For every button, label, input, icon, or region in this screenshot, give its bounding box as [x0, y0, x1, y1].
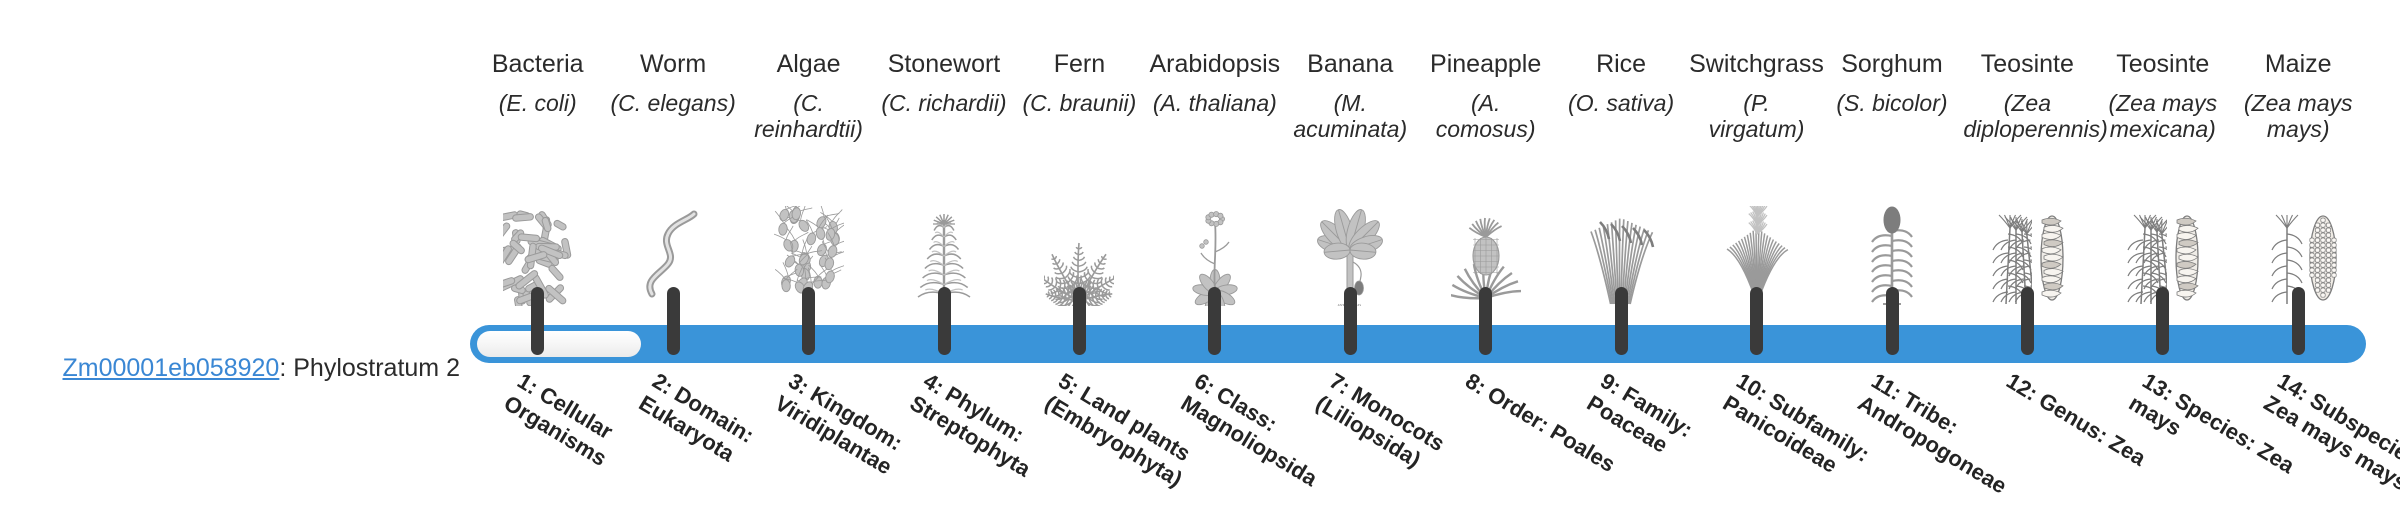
species-column: Stonewort(C. richardii): [876, 50, 1011, 310]
species-column: Pineapple(A. comosus): [1418, 50, 1553, 310]
phylostratum-bar-track: [470, 325, 2366, 363]
taxonomy-rank-label: 12: Genus: Zea: [2002, 368, 2165, 480]
species-scientific-name: (M. acuminata): [1286, 90, 1414, 142]
species-common-name: Fern: [1054, 50, 1105, 78]
taxonomy-rank-text: Land plants (Embryophyta): [1041, 381, 1195, 491]
nematode-worm-icon: [605, 205, 740, 310]
taxonomy-rank-label: 6: Class: Magnoliopsida: [1176, 368, 1353, 502]
taxonomy-rank-text: Tribe: Andropogoneae: [1854, 387, 2011, 498]
taxonomy-rank-text: Phylum: Streptophyta: [906, 381, 1035, 481]
taxonomy-rank-text: Monocots (Liliopsida): [1312, 381, 1449, 472]
species-scientific-name: (Zea mays mexicana): [2099, 90, 2227, 142]
gene-label-separator: :: [279, 354, 293, 382]
species-common-name: Sorghum: [1841, 50, 1942, 78]
taxonomy-rank-label: 14: Subspecies: Zea mays mays: [2260, 368, 2400, 502]
species-common-name: Teosinte: [2116, 50, 2209, 78]
species-scientific-name: (C. reinhardtii): [745, 90, 873, 142]
taxonomy-rank-number: 2:: [648, 368, 678, 400]
species-column: Sorghum(S. bicolor): [1824, 50, 1959, 310]
algae-cells-icon: [741, 205, 876, 310]
taxonomy-rank-number: 12:: [2003, 368, 2043, 406]
species-column: Fern(C. braunii): [1012, 50, 1147, 310]
species-column: Algae(C. reinhardtii): [741, 50, 876, 310]
species-scientific-name: (C. richardii): [881, 90, 1006, 116]
species-scientific-name: (E. coli): [499, 90, 577, 116]
taxonomy-rank-number: 10:: [1732, 368, 1772, 406]
taxonomy-rank-label: 2: Domain: Eukaryota: [635, 368, 812, 502]
species-common-name: Rice: [1596, 50, 1646, 78]
taxonomy-rank-number: 14:: [2273, 368, 2313, 406]
species-common-name: Arabidopsis: [1150, 50, 1281, 78]
taxonomy-rank-number: 13:: [2138, 368, 2178, 406]
taxonomy-rank-number: 1:: [513, 368, 543, 400]
species-column: Bacteria(E. coli): [470, 50, 605, 310]
taxonomy-rank-text: Species: Zea mays: [2125, 388, 2299, 479]
species-columns: Bacteria(E. coli)Worm(C. elegans)Algae(C…: [470, 50, 2366, 310]
taxonomy-rank-text: Domain: Eukaryota: [635, 381, 759, 466]
taxonomy-rank-text: Class: Magnoliopsida: [1177, 381, 1322, 491]
species-column: Banana(M. acuminata): [1283, 50, 1418, 310]
teosinte-plant-ear-icon: [1960, 205, 2095, 310]
species-common-name: Bacteria: [492, 50, 584, 78]
taxonomy-rank-number: 11:: [1867, 368, 1906, 405]
taxonomy-rank-text: Family: Poaceae: [1583, 381, 1697, 457]
stonewort-icon: [876, 205, 1011, 310]
species-scientific-name: (Zea diploperennis): [1963, 90, 2091, 142]
species-common-name: Algae: [777, 50, 841, 78]
species-common-name: Maize: [2265, 50, 2332, 78]
taxonomy-rank-text: Order: Poales: [1483, 381, 1620, 477]
taxonomy-rank-number: 3:: [784, 368, 814, 400]
taxonomy-rank-label: 10: Subfamily: Panicoideae: [1718, 368, 1895, 502]
taxonomy-rank-number: 8:: [1461, 368, 1491, 400]
phylostratum-bar[interactable]: [470, 325, 2366, 363]
taxonomy-rank-text: Genus: Zea: [2035, 388, 2151, 471]
species-scientific-name: (A. thaliana): [1153, 90, 1277, 116]
taxonomy-rank-label: 8: Order: Poales: [1460, 368, 1623, 480]
taxonomy-rank-number: 4:: [919, 368, 949, 400]
taxonomy-rank-text: Subfamily: Panicoideae: [1718, 388, 1873, 478]
species-scientific-name: (P. virgatum): [1693, 90, 1821, 142]
taxonomy-rank-label: 5: Land plants (Embryophyta): [1041, 368, 1218, 502]
pineapple-icon: [1418, 205, 1553, 310]
taxonomy-rank-text: Subspecies: Zea mays mays: [2260, 388, 2400, 496]
species-common-name: Stonewort: [888, 50, 1001, 78]
species-scientific-name: (C. elegans): [610, 90, 735, 116]
taxonomy-rank-number: 6:: [1190, 368, 1220, 400]
species-common-name: Banana: [1307, 50, 1393, 78]
taxonomy-rank-number: 7:: [1325, 368, 1355, 400]
species-column: Rice(O. sativa): [1553, 50, 1688, 310]
species-column: Teosinte(Zea mays mexicana): [2095, 50, 2230, 310]
sorghum-icon: [1824, 205, 1959, 310]
rice-grass-icon: [1553, 205, 1688, 310]
taxonomy-rank-number: 5:: [1055, 368, 1085, 400]
species-common-name: Switchgrass: [1689, 50, 1824, 78]
species-column: Maize(Zea mays mays): [2230, 50, 2365, 310]
species-scientific-name: (S. bicolor): [1836, 90, 1947, 116]
taxonomy-rank-labels: 1: Cellular Organisms2: Domain: Eukaryot…: [470, 368, 2366, 518]
phylostratum-visualization: Zm00001eb058920: Phylostratum 2 Bacteria…: [0, 0, 2400, 520]
species-column: Worm(C. elegans): [605, 50, 740, 310]
species-scientific-name: (O. sativa): [1568, 90, 1674, 116]
species-column: Teosinte(Zea diploperennis): [1960, 50, 2095, 310]
taxonomy-rank-label: 13: Species: Zea mays: [2124, 368, 2301, 502]
taxonomy-rank-label: 7: Monocots (Liliopsida): [1312, 368, 1489, 502]
species-scientific-name: (A. comosus): [1422, 90, 1550, 142]
phylostratum-value-text: Phylostratum 2: [293, 354, 460, 382]
maize-plant-ear-icon: [2230, 205, 2365, 310]
taxonomy-rank-label: 9: Family: Poaceae: [1583, 368, 1760, 502]
bacteria-rods-icon: [470, 205, 605, 310]
banana-plant-icon: [1283, 205, 1418, 310]
phylostratum-bar-unfilled-segment: [477, 331, 641, 357]
species-column: Switchgrass(P. virgatum): [1689, 50, 1824, 310]
gene-phylostratum-label: Zm00001eb058920: Phylostratum 2: [40, 355, 460, 383]
species-scientific-name: (Zea mays mays): [2234, 90, 2362, 142]
teosinte-plant-ear-icon: [2095, 205, 2230, 310]
gene-id-link[interactable]: Zm00001eb058920: [62, 354, 279, 382]
species-common-name: Teosinte: [1981, 50, 2074, 78]
taxonomy-rank-label: 1: Cellular Organisms: [499, 368, 676, 502]
taxonomy-rank-number: 9:: [1596, 368, 1626, 400]
species-common-name: Pineapple: [1430, 50, 1541, 78]
taxonomy-rank-label: 3: Kingdom: Viridiplantae: [770, 368, 947, 502]
taxonomy-rank-text: Kingdom: Viridiplantae: [770, 381, 906, 479]
switchgrass-icon: [1689, 205, 1824, 310]
taxonomy-rank-label: 11: Tribe: Andropogoneae: [1853, 368, 2030, 502]
taxonomy-rank-text: Cellular Organisms: [500, 381, 617, 470]
species-common-name: Worm: [640, 50, 706, 78]
arabidopsis-icon: [1147, 205, 1282, 310]
species-column: Arabidopsis(A. thaliana): [1147, 50, 1282, 310]
species-scientific-name: (C. braunii): [1023, 90, 1137, 116]
taxonomy-rank-label: 4: Phylum: Streptophyta: [905, 368, 1082, 502]
fern-icon: [1012, 205, 1147, 310]
